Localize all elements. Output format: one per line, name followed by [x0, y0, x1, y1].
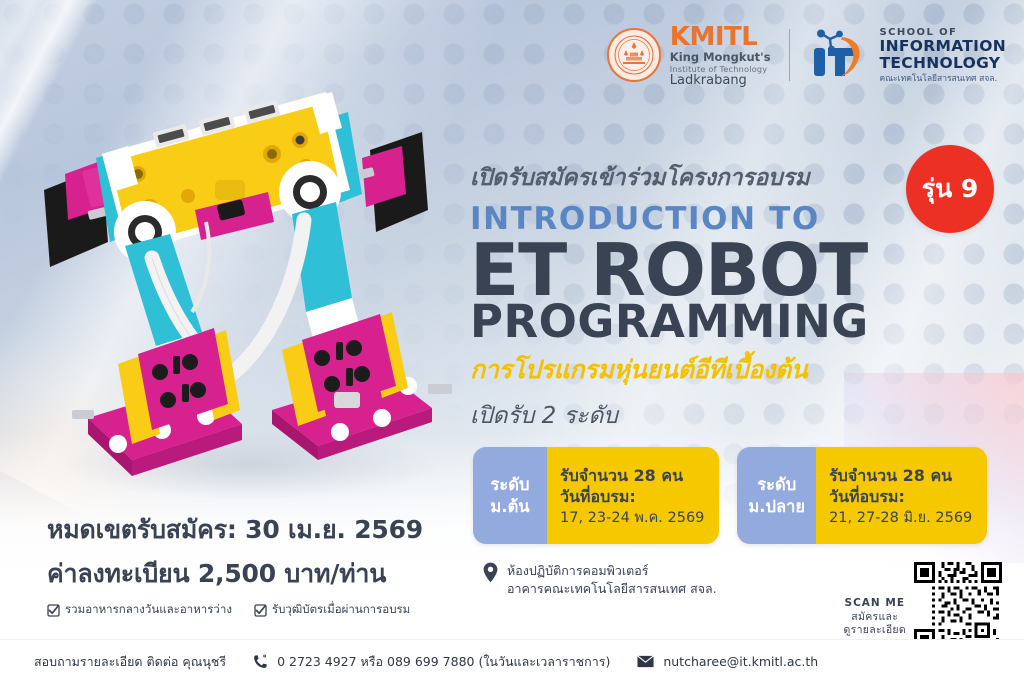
level-card-junior: ระดับ ม.ต้น รับจำนวน 28 คน วันที่อบรม: 1… — [473, 447, 719, 544]
logo-divider — [789, 29, 790, 81]
level-senior-capacity: รับจำนวน 28 คน — [829, 466, 972, 487]
map-pin-icon — [483, 562, 498, 583]
check-box-icon — [254, 604, 267, 617]
email-icon — [637, 655, 654, 668]
deadline-block: หมดเขตรับสมัคร: 30 เม.ย. 2569 ค่าลงทะเบี… — [47, 510, 467, 619]
kmitl-wordmark: KMITL King Mongkut's Institute of Techno… — [670, 24, 771, 87]
cohort-badge: รุ่น 9 — [906, 145, 994, 233]
kmitl-logo: KMITL King Mongkut's Institute of Techno… — [607, 24, 771, 87]
kmitl-seal-icon — [607, 28, 661, 82]
level-senior-date-label: วันที่อบรม: — [829, 487, 972, 508]
kmitl-name: KMITL — [670, 24, 771, 50]
scan-me-line2: สมัครและ — [844, 611, 906, 625]
level-junior-line2: ม.ต้น — [490, 496, 529, 517]
level-senior-dates: 21, 27-28 มิ.ย. 2569 — [829, 509, 972, 528]
level-junior-capacity: รับจำนวน 28 คน — [560, 466, 704, 487]
level-junior-date-label: วันที่อบรม: — [560, 487, 704, 508]
footer-phone: 0 2723 4927 หรือ 089 699 7880 (ในวันและเ… — [277, 652, 610, 672]
kmitl-line3: Ladkrabang — [670, 74, 771, 87]
qr-code-icon[interactable] — [914, 562, 1002, 650]
level-senior-line2: ม.ปลาย — [748, 496, 805, 517]
scan-me-line3: ดูรายละเอียด — [844, 624, 906, 638]
check-box-icon — [47, 604, 60, 617]
venue-line2: อาคารคณะเทคโนโลยีสารสนเทศ สจล. — [507, 580, 717, 598]
cohort-badge-label: รุ่น 9 — [922, 169, 979, 209]
it-line2: INFORMATION — [880, 38, 1006, 55]
poster-root: KMITL King Mongkut's Institute of Techno… — [0, 0, 1024, 683]
level-card-senior-level: ระดับ ม.ปลาย — [737, 447, 816, 544]
kmitl-line1: King Mongkut's — [670, 52, 771, 64]
thai-subtitle: การโปรแกรมหุ่นยนต์อีทีเบื้องต้น — [470, 350, 1010, 390]
title-line-2: ET ROBOT — [470, 237, 1010, 303]
level-card-senior-details: รับจำนวน 28 คน วันที่อบรม: 21, 27-28 มิ.… — [816, 447, 987, 544]
it-line3: TECHNOLOGY — [880, 55, 1006, 72]
it-line4-thai: คณะเทคโนโลยีสารสนเทศ สจล. — [880, 75, 1006, 85]
scan-me-label: SCAN ME — [844, 597, 906, 611]
it-mark-icon — [808, 28, 870, 82]
phone-icon — [253, 654, 268, 669]
it-school-wordmark: SCHOOL OF INFORMATION TECHNOLOGY คณะเทคโ… — [880, 27, 1006, 84]
fee-line: ค่าลงทะเบียน 2,500 บาท/ท่าน — [47, 554, 467, 594]
kmitl-line2: Institute of Technology — [670, 65, 771, 73]
venue-line1: ห้องปฏิบัติการคอมพิวเตอร์ — [507, 562, 717, 580]
levels-label: เปิดรับ 2 ระดับ — [470, 398, 1010, 434]
level-card-senior: ระดับ ม.ปลาย รับจำนวน 28 คน วันที่อบรม: … — [737, 447, 987, 544]
level-card-junior-details: รับจำนวน 28 คน วันที่อบรม: 17, 23-24 พ.ค… — [547, 447, 719, 544]
inclusion-item-meals: รวมอาหารกลางวันและอาหารว่าง — [47, 601, 232, 619]
inclusion-item-certificate: รับวุฒิบัตรเมื่อผ่านการอบรม — [254, 601, 410, 619]
venue-block: ห้องปฏิบัติการคอมพิวเตอร์ อาคารคณะเทคโนโ… — [483, 562, 717, 598]
title-line-3: PROGRAMMING — [470, 301, 1010, 344]
footer-bar: สอบถามรายละเอียด ติดต่อ คุณนุชรี 0 2723 … — [0, 639, 1024, 683]
qr-block[interactable]: SCAN ME สมัครและ ดูรายละเอียด — [844, 562, 1002, 650]
inclusion-label-certificate: รับวุฒิบัตรเมื่อผ่านการอบรม — [272, 601, 410, 619]
level-senior-line1: ระดับ — [757, 474, 796, 495]
venue-text: ห้องปฏิบัติการคอมพิวเตอร์ อาคารคณะเทคโนโ… — [507, 562, 717, 598]
level-junior-dates: 17, 23-24 พ.ค. 2569 — [560, 509, 704, 528]
robot-illustration — [10, 62, 470, 502]
footer-email: nutcharee@it.kmitl.ac.th — [663, 654, 818, 669]
footer-contact-intro: สอบถามรายละเอียด ติดต่อ คุณนุชรี — [34, 652, 226, 672]
level-card-junior-level: ระดับ ม.ต้น — [473, 447, 547, 544]
inclusions-list: รวมอาหารกลางวันและอาหารว่าง รับวุฒิบัตรเ… — [47, 601, 467, 619]
inclusion-label-meals: รวมอาหารกลางวันและอาหารว่าง — [65, 601, 232, 619]
deadline-line: หมดเขตรับสมัคร: 30 เม.ย. 2569 — [47, 510, 467, 550]
level-cards: ระดับ ม.ต้น รับจำนวน 28 คน วันที่อบรม: 1… — [473, 447, 987, 544]
level-junior-line1: ระดับ — [491, 474, 530, 495]
it-school-logo: SCHOOL OF INFORMATION TECHNOLOGY คณะเทคโ… — [808, 27, 1006, 84]
header-logos: KMITL King Mongkut's Institute of Techno… — [607, 24, 1006, 87]
